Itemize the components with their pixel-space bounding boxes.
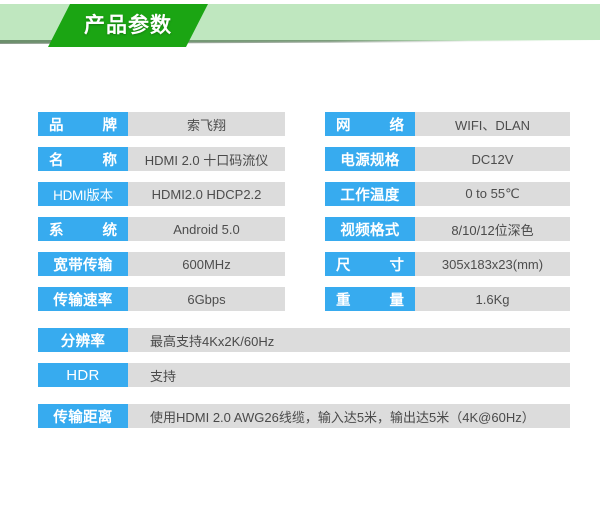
spec-value-name: HDMI 2.0 十口码流仪 <box>128 147 285 171</box>
spec-label-char: 寸 <box>390 254 405 275</box>
spec-label-char: 络 <box>390 114 405 135</box>
table-row: 分辨率 最高支持4Kx2K/60Hz <box>38 328 570 352</box>
specification-section: 品牌 索飞翔 网络 WIFI、DLAN 名称 HDMI 2.0 十口码流仪 电源… <box>0 47 600 520</box>
spec-label-power-spec: 电源规格 <box>325 147 415 171</box>
spec-item-operating-temperature: 工作温度 0 to 55℃ <box>325 182 570 206</box>
spec-label-char: 品 <box>49 114 64 135</box>
spec-item-resolution: 分辨率 最高支持4Kx2K/60Hz <box>38 328 570 352</box>
spec-item-dimensions: 尺寸 305x183x23(mm) <box>325 252 570 276</box>
spec-label-video-format: 视频格式 <box>325 217 415 241</box>
spec-label-char: 网 <box>336 114 351 135</box>
spec-value-resolution: 最高支持4Kx2K/60Hz <box>128 328 570 352</box>
spec-item-hdr: HDR 支持 <box>38 363 570 387</box>
spec-label-char: 牌 <box>103 114 118 135</box>
spec-item-bandwidth: 宽带传输 600MHz <box>38 252 285 276</box>
spec-item-network: 网络 WIFI、DLAN <box>325 112 570 136</box>
spec-value-transmission-distance: 使用HDMI 2.0 AWG26线缆，输入达5米，输出达5米（4K@60Hz） <box>128 404 570 428</box>
spec-label-char: 系 <box>49 219 64 240</box>
spec-label-bandwidth: 宽带传输 <box>38 252 128 276</box>
table-row: HDMI版本 HDMI2.0 HDCP2.2 工作温度 0 to 55℃ <box>38 182 570 206</box>
page-title: 产品参数 <box>48 4 208 47</box>
spec-value-dimensions: 305x183x23(mm) <box>415 252 570 276</box>
spec-label-resolution: 分辨率 <box>38 328 128 352</box>
spec-label-system: 系统 <box>38 217 128 241</box>
table-row: HDR 支持 <box>38 363 570 387</box>
spec-label-name: 名称 <box>38 147 128 171</box>
spec-label-operating-temperature: 工作温度 <box>325 182 415 206</box>
spec-item-name: 名称 HDMI 2.0 十口码流仪 <box>38 147 285 171</box>
spec-item-weight: 重量 1.6Kg <box>325 287 570 311</box>
table-row: 品牌 索飞翔 网络 WIFI、DLAN <box>38 112 570 136</box>
spec-value-bandwidth: 600MHz <box>128 252 285 276</box>
spec-label-hdr: HDR <box>38 363 128 387</box>
spec-label-char: 尺 <box>336 254 351 275</box>
spec-label-weight: 重量 <box>325 287 415 311</box>
spec-item-brand: 品牌 索飞翔 <box>38 112 285 136</box>
spec-value-transmission-rate: 6Gbps <box>128 287 285 311</box>
spec-item-power-spec: 电源规格 DC12V <box>325 147 570 171</box>
spec-item-video-format: 视频格式 8/10/12位深色 <box>325 217 570 241</box>
spec-item-system: 系统 Android 5.0 <box>38 217 285 241</box>
spec-value-weight: 1.6Kg <box>415 287 570 311</box>
spec-label-char: 称 <box>103 149 118 170</box>
spec-value-network: WIFI、DLAN <box>415 112 570 136</box>
page-header-banner: 产品参数 <box>0 0 600 47</box>
spec-label-hdmi-version: HDMI版本 <box>38 182 128 206</box>
spec-label-char: 量 <box>390 289 405 310</box>
spec-item-transmission-distance: 传输距离 使用HDMI 2.0 AWG26线缆，输入达5米，输出达5米（4K@6… <box>38 404 570 428</box>
spec-label-network: 网络 <box>325 112 415 136</box>
table-row: 名称 HDMI 2.0 十口码流仪 电源规格 DC12V <box>38 147 570 171</box>
spec-label-transmission-distance: 传输距离 <box>38 404 128 428</box>
spec-label-char: 重 <box>336 289 351 310</box>
spec-value-power-spec: DC12V <box>415 147 570 171</box>
specification-table: 品牌 索飞翔 网络 WIFI、DLAN 名称 HDMI 2.0 十口码流仪 电源… <box>38 112 570 439</box>
spec-label-dimensions: 尺寸 <box>325 252 415 276</box>
table-row: 宽带传输 600MHz 尺寸 305x183x23(mm) <box>38 252 570 276</box>
spec-item-transmission-rate: 传输速率 6Gbps <box>38 287 285 311</box>
spec-label-brand: 品牌 <box>38 112 128 136</box>
spec-value-hdr: 支持 <box>128 363 570 387</box>
table-row: 传输速率 6Gbps 重量 1.6Kg <box>38 287 570 311</box>
spec-value-brand: 索飞翔 <box>128 112 285 136</box>
spec-label-char: 统 <box>103 219 118 240</box>
spec-value-operating-temperature: 0 to 55℃ <box>415 182 570 206</box>
spec-value-system: Android 5.0 <box>128 217 285 241</box>
spec-label-char: 名 <box>49 149 64 170</box>
table-row: 系统 Android 5.0 视频格式 8/10/12位深色 <box>38 217 570 241</box>
spec-value-hdmi-version: HDMI2.0 HDCP2.2 <box>128 182 285 206</box>
spec-label-transmission-rate: 传输速率 <box>38 287 128 311</box>
table-row: 传输距离 使用HDMI 2.0 AWG26线缆，输入达5米，输出达5米（4K@6… <box>38 404 570 428</box>
spec-value-video-format: 8/10/12位深色 <box>415 217 570 241</box>
spec-item-hdmi-version: HDMI版本 HDMI2.0 HDCP2.2 <box>38 182 285 206</box>
